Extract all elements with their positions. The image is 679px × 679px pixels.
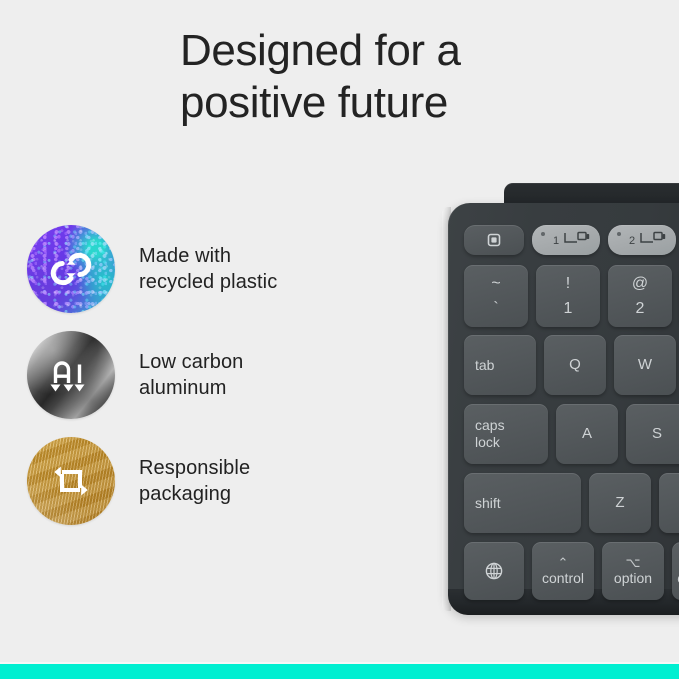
key-tab[interactable]: tab: [464, 335, 536, 395]
device-switch-icon: [564, 231, 590, 249]
key-shift[interactable]: shift: [464, 473, 581, 533]
key-a-label: A: [556, 404, 618, 464]
status-dot: [617, 232, 621, 236]
wireless-keyboard: 1 2: [448, 183, 679, 615]
infographic-canvas: Designed for a positive future Made with…: [0, 0, 679, 679]
key-caps-lock-label: caps lock: [464, 404, 548, 464]
list-item-label: Responsible packaging: [139, 455, 250, 508]
key-tab-label: tab: [464, 335, 536, 395]
package-loop-icon: [27, 437, 115, 525]
key-option-label: option: [614, 570, 652, 587]
page-title: Designed for a positive future: [180, 25, 600, 129]
key-globe[interactable]: [464, 542, 524, 600]
key-easy-switch-1-number: 1: [553, 235, 559, 247]
key-z-label: Z: [589, 473, 651, 533]
key-easy-switch-1[interactable]: 1: [532, 225, 600, 255]
key-s-label: S: [626, 404, 679, 464]
status-dot: [541, 232, 545, 236]
aluminum-al-down-arrows-icon: [27, 331, 115, 419]
key-tilde-top: ~: [491, 274, 500, 293]
key-escape[interactable]: [464, 225, 524, 255]
key-x-label: X: [659, 473, 679, 533]
key-w-label: W: [614, 335, 676, 395]
key-one[interactable]: ! 1: [536, 265, 600, 327]
list-item-label: Made with recycled plastic: [139, 243, 277, 296]
device-switch-icon: [640, 231, 666, 249]
globe-icon: [484, 561, 504, 581]
feature-list: Made with recycled plastic Low carbon al…: [27, 216, 387, 534]
key-w[interactable]: W: [614, 335, 676, 395]
list-item: Made with recycled plastic: [27, 216, 387, 322]
key-one-bottom: 1: [564, 299, 573, 318]
key-tilde-bottom: `: [493, 299, 498, 318]
key-x[interactable]: X: [659, 473, 679, 533]
accent-bar: [0, 664, 679, 679]
key-option[interactable]: ⌥ option: [602, 542, 664, 600]
key-tilde[interactable]: ~ `: [464, 265, 528, 327]
key-command[interactable]: ⌘ command: [672, 542, 679, 600]
recycling-loop-icon: [27, 225, 115, 313]
key-a[interactable]: A: [556, 404, 618, 464]
list-item: Responsible packaging: [27, 428, 387, 534]
key-control-label: control: [542, 570, 584, 587]
key-easy-switch-2[interactable]: 2: [608, 225, 676, 255]
control-glyph-icon: ⌃: [558, 556, 569, 569]
key-q-label: Q: [544, 335, 606, 395]
key-z[interactable]: Z: [589, 473, 651, 533]
option-glyph-icon: ⌥: [626, 556, 641, 569]
key-shift-label: shift: [464, 473, 581, 533]
list-item-label: Low carbon aluminum: [139, 349, 243, 402]
key-q[interactable]: Q: [544, 335, 606, 395]
key-s[interactable]: S: [626, 404, 679, 464]
list-item: Low carbon aluminum: [27, 322, 387, 428]
key-two-top: @: [632, 274, 648, 293]
key-easy-switch-2-number: 2: [629, 235, 635, 247]
key-control[interactable]: ⌃ control: [532, 542, 594, 600]
key-two-bottom: 2: [636, 299, 645, 318]
rounded-square-icon: [486, 232, 502, 248]
key-one-top: !: [566, 274, 570, 293]
key-caps-lock[interactable]: caps lock: [464, 404, 548, 464]
key-two[interactable]: @ 2: [608, 265, 672, 327]
